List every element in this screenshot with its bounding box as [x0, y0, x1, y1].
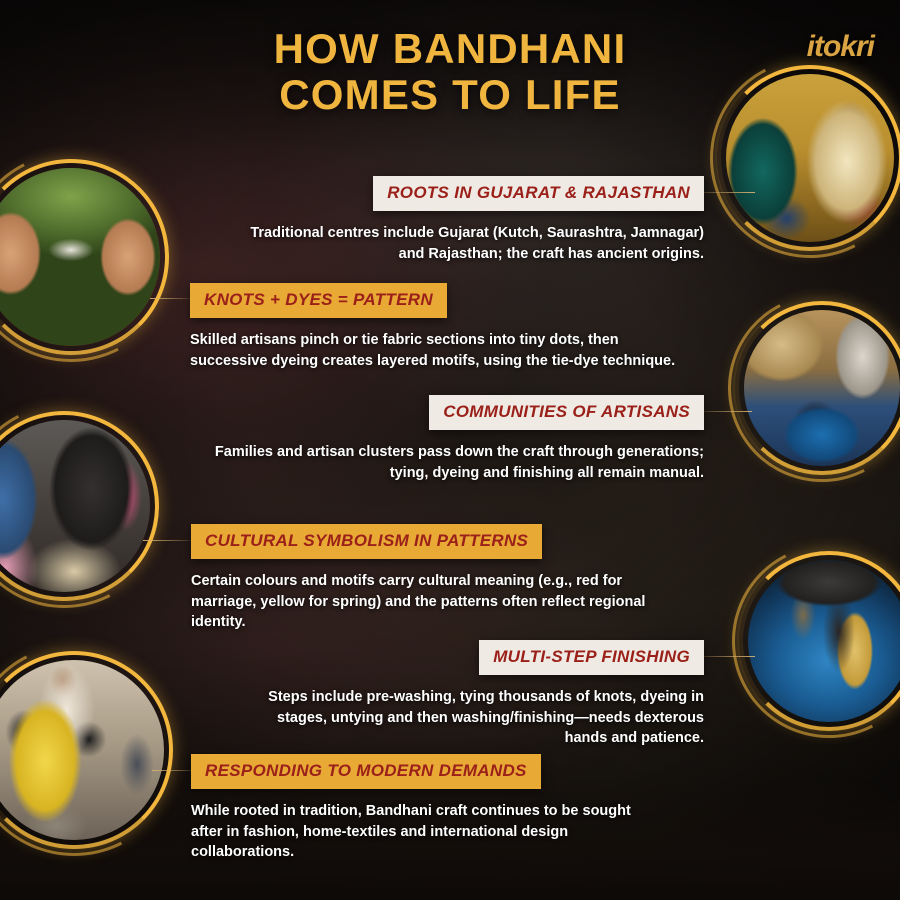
photo-disc	[0, 660, 164, 840]
connector-line-communities	[700, 411, 752, 412]
title-line-1: HOW BANDHANI	[0, 26, 900, 72]
section-body-knots: Skilled artisans pinch or tie fabric sec…	[190, 330, 690, 371]
connector-line-knots	[150, 298, 190, 299]
brand-logo-text: itokri	[807, 30, 874, 63]
section-heading-roots: ROOTS IN GUJARAT & RAJASTHAN	[373, 176, 704, 211]
section-modern: RESPONDING TO MODERN DEMANDS While roote…	[191, 754, 661, 863]
photo-women-tying-pink	[0, 420, 150, 592]
brand-logo: itokri	[807, 30, 874, 64]
connector-line-finishing	[699, 656, 755, 657]
section-heading-symbolism: CULTURAL SYMBOLISM IN PATTERNS	[191, 524, 542, 559]
photo-disc	[0, 420, 150, 592]
photo-disc	[0, 168, 160, 346]
section-heading-modern: RESPONDING TO MODERN DEMANDS	[191, 754, 541, 789]
photo-disc	[744, 310, 900, 466]
photo-tying-red-cloth	[0, 168, 160, 346]
photo-dyer-blue-vat	[744, 310, 900, 466]
section-body-communities: Families and artisan clusters pass down …	[206, 442, 704, 483]
section-body-modern: While rooted in tradition, Bandhani craf…	[191, 801, 661, 863]
section-roots: ROOTS IN GUJARAT & RAJASTHAN Traditional…	[232, 176, 704, 264]
section-body-roots: Traditional centres include Gujarat (Kut…	[232, 223, 704, 264]
photo-vat-dipping	[748, 560, 900, 722]
section-heading-communities: COMMUNITIES OF ARTISANS	[429, 395, 704, 430]
photo-yellow-cloth-lift	[0, 660, 164, 840]
section-body-symbolism: Certain colours and motifs carry cultura…	[191, 571, 651, 633]
section-heading-finishing: MULTI-STEP FINISHING	[479, 640, 704, 675]
section-knots: KNOTS + DYES = PATTERN Skilled artisans …	[190, 283, 690, 371]
section-communities: COMMUNITIES OF ARTISANS Families and art…	[206, 395, 704, 483]
section-heading-knots: KNOTS + DYES = PATTERN	[190, 283, 447, 318]
connector-line-symbolism	[143, 540, 191, 541]
title-line-2: COMES TO LIFE	[0, 72, 900, 118]
page-title: HOW BANDHANI COMES TO LIFE	[0, 26, 900, 118]
section-symbolism: CULTURAL SYMBOLISM IN PATTERNS Certain c…	[191, 524, 651, 633]
section-body-finishing: Steps include pre-washing, tying thousan…	[256, 687, 704, 749]
infographic-poster: itokri HOW BANDHANI COMES TO LIFE	[0, 0, 900, 900]
photo-disc	[748, 560, 900, 722]
connector-line-roots	[697, 192, 755, 193]
section-finishing: MULTI-STEP FINISHING Steps include pre-w…	[256, 640, 704, 749]
connector-line-modern	[152, 770, 194, 771]
